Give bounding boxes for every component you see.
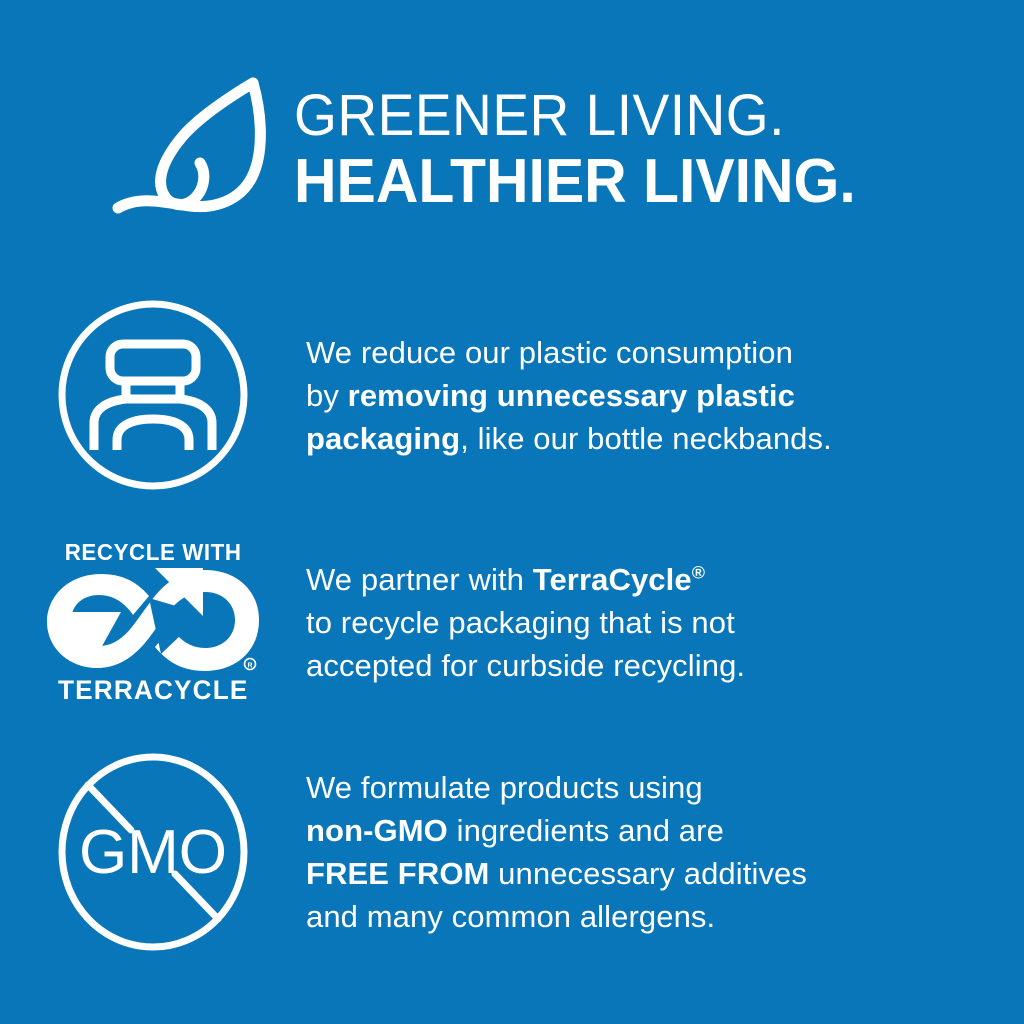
infographic-panel: GREENER LIVING. HEALTHIER LIVING. [0,0,1024,1024]
body-line: We reduce our plastic consumption [306,331,984,374]
body-line: accepted for curbside recycling. [306,644,984,687]
header-text-block: GREENER LIVING. HEALTHIER LIVING. [294,85,885,215]
body-line: FREE FROM unnecessary additives [306,852,984,895]
headline-line-1: GREENER LIVING. [294,85,856,147]
bottle-neckband-icon [55,297,251,493]
text-cell-3: We formulate products using non-GMO ingr… [300,766,1024,938]
feature-row-plastic-reduction: We reduce our plastic consumption by rem… [0,292,1024,498]
svg-text:R: R [247,663,252,670]
terracycle-logo: RECYCLE WITH [45,539,261,705]
header-banner: GREENER LIVING. HEALTHIER LIVING. [0,62,1024,237]
text-cell-2: We partner with TerraCycle® to recycle p… [300,558,1024,687]
body-line: We partner with TerraCycle® [306,558,984,601]
terracycle-top-label: RECYCLE WITH [65,539,242,565]
body-line: packaging, like our bottle neckbands. [306,417,984,460]
headline-line-2: HEALTHIER LIVING. [294,149,856,215]
body-line: by removing unnecessary plastic [306,374,984,417]
body-line: We formulate products using [306,766,984,809]
svg-text:GMO: GMO [79,818,227,887]
feature-row-terracycle: RECYCLE WITH [0,524,1024,720]
feature-row-non-gmo: GMO We formulate products using non-GMO … [0,746,1024,958]
no-gmo-icon: GMO [55,752,251,952]
text-cell-1: We reduce our plastic consumption by rem… [300,331,1024,460]
icon-cell-2: RECYCLE WITH [0,524,300,720]
leaf-icon [112,75,272,230]
terracycle-bottom-label: TERRACYCLE [58,675,249,705]
icon-cell-1 [0,292,300,498]
infinity-recycle-arrows-icon: R [45,568,261,674]
icon-cell-3: GMO [0,746,300,958]
body-line: to recycle packaging that is not [306,601,984,644]
body-line: and many common allergens. [306,895,984,938]
body-line: non-GMO ingredients and are [306,809,984,852]
